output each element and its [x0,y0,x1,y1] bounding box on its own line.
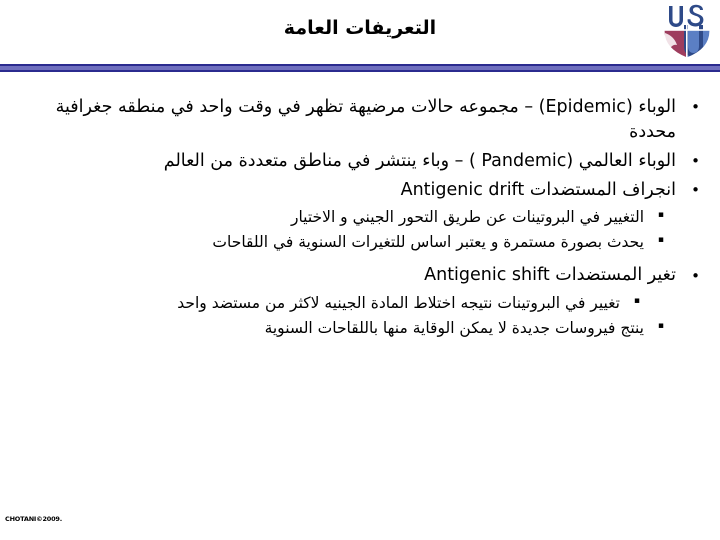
bullet-item-epidemic: • الوباء (Epidemic) – مجموعه حالات مرضيه… [18,95,702,145]
usu-shield-logo-icon [662,1,712,59]
square-bullet-marker-icon: ▪ [658,209,664,222]
square-bullet-marker-icon: ▪ [658,234,664,247]
bullet-item-antigenic-drift: • انجراف المستضدات Antigenic drift [18,178,702,203]
divider-line-bottom [0,70,720,72]
bullet-list-level-2: ▪ التغيير في البروتينات عن طريق التحور ا… [54,206,668,253]
bullet-marker-icon: • [691,97,700,118]
subbullet-text: التغيير في البروتينات عن طريق التحور الج… [291,208,644,226]
bullet-list-level-2: ▪ تغيير في البروتينات نتيجه اختلاط الماد… [84,292,644,314]
subbullet-text: يحدث بصورة مستمرة و يعتبر اساس للتغيرات … [212,233,644,251]
content-spacer [18,256,702,263]
bullet-marker-icon: • [691,151,700,172]
bullet-list-level-1: • الوباء (Epidemic) – مجموعه حالات مرضيه… [18,95,702,339]
subbullet-text: تغيير في البروتينات نتيجه اختلاط المادة … [177,294,620,312]
bullet-text: الوباء العالمي (Pandemic ) – وباء ينتشر … [164,151,676,171]
sublist-wrapper-new-viruses: ▪ ينتج فيروسات جديدة لا يمكن الوقاية منه… [18,317,702,339]
copyright-footer: CHOTANI©2009. [5,515,62,523]
header-divider [0,64,720,75]
bullet-marker-icon: • [691,180,700,201]
subbullet-item-new-viruses: ▪ ينتج فيروسات جديدة لا يمكن الوقاية منه… [54,317,668,339]
square-bullet-marker-icon: ▪ [634,295,640,308]
bullet-marker-icon: • [691,266,700,287]
bullet-text: تغير المستضدات Antigenic shift [424,265,676,285]
presentation-slide: التعريفات العامة [0,0,720,540]
slide-header: التعريفات العامة [0,0,720,66]
slide-content: • الوباء (Epidemic) – مجموعه حالات مرضيه… [18,95,702,342]
bullet-list-level-2: ▪ ينتج فيروسات جديدة لا يمكن الوقاية منه… [54,317,668,339]
subbullet-item-gene-mixing: ▪ تغيير في البروتينات نتيجه اختلاط الماد… [84,292,644,314]
sublist-wrapper-antigenic-drift: ▪ التغيير في البروتينات عن طريق التحور ا… [18,206,702,253]
page-title: التعريفات العامة [0,18,720,39]
sublist-wrapper-antigenic-shift: ▪ تغيير في البروتينات نتيجه اختلاط الماد… [18,292,702,314]
subbullet-text: ينتج فيروسات جديدة لا يمكن الوقاية منها … [265,319,644,337]
square-bullet-marker-icon: ▪ [658,320,664,333]
bullet-item-antigenic-shift: • تغير المستضدات Antigenic shift [18,263,702,288]
bullet-item-pandemic: • الوباء العالمي (Pandemic ) – وباء ينتش… [18,149,702,174]
bullet-text: انجراف المستضدات Antigenic drift [401,180,676,200]
subbullet-item-continuous-basis: ▪ يحدث بصورة مستمرة و يعتبر اساس للتغيرا… [54,231,668,253]
bullet-text: الوباء (Epidemic) – مجموعه حالات مرضيهة … [56,97,676,142]
subbullet-item-protein-change: ▪ التغيير في البروتينات عن طريق التحور ا… [54,206,668,228]
